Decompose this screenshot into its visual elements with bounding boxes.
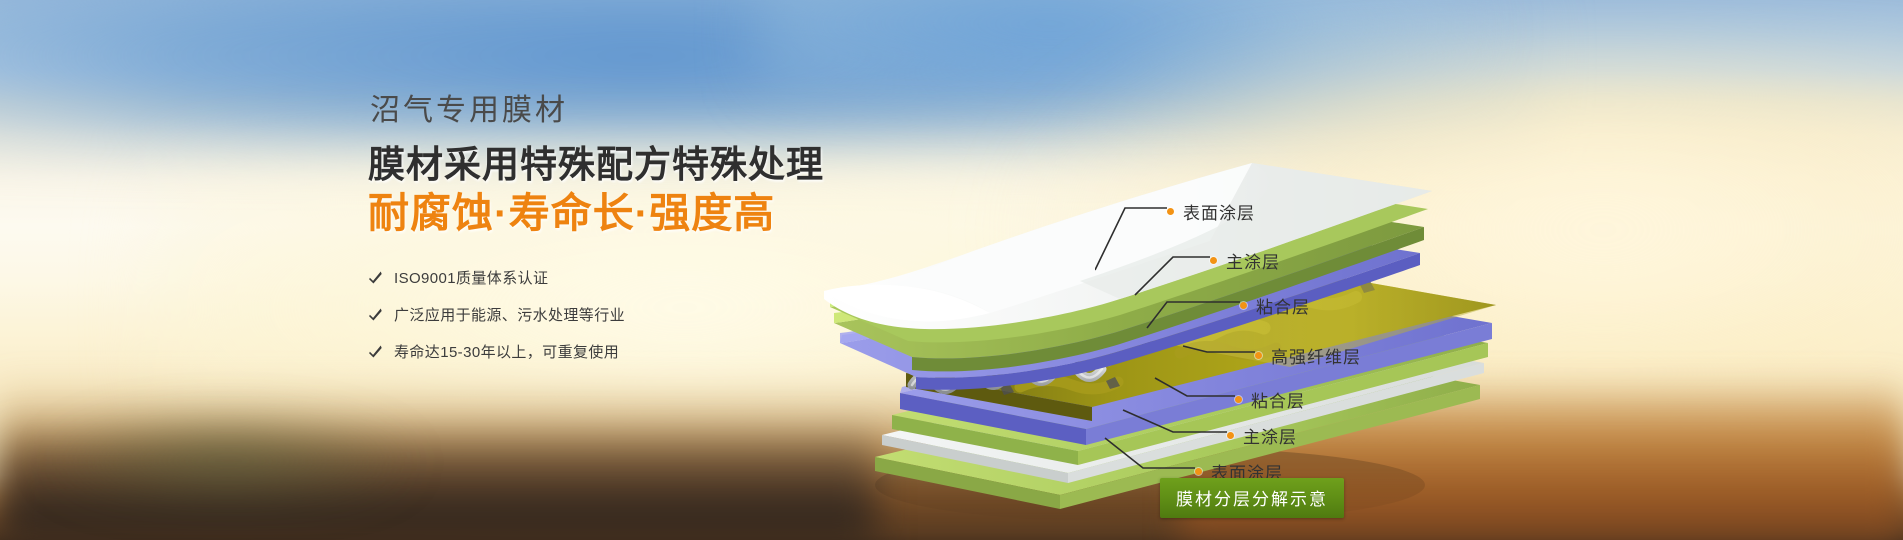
callout-label: 主涂层 [1243, 423, 1297, 448]
list-item: ISO9001质量体系认证 [368, 267, 868, 288]
list-item: 广泛应用于能源、污水处理等行业 [368, 304, 868, 325]
callout-label: 表面涂层 [1183, 199, 1255, 224]
list-item-label: ISO9001质量体系认证 [394, 267, 548, 288]
bullet-dot-icon [1240, 302, 1247, 309]
check-icon [368, 344, 383, 359]
banner-eyebrow: 沼气专用膜材 [370, 96, 868, 126]
leader-lines [1095, 80, 1595, 500]
callout-label: 主涂层 [1226, 248, 1280, 273]
callout-label: 高强纤维层 [1271, 343, 1361, 368]
callout-label: 粘合层 [1251, 387, 1305, 412]
banner-copy: 沼气专用膜材 膜材采用特殊配方特殊处理 耐腐蚀·寿命长·强度高 ISO9001质… [368, 96, 868, 378]
list-item-label: 寿命达15-30年以上，可重复使用 [394, 341, 619, 362]
background-green-patch [38, 410, 419, 496]
hero-banner: 沼气专用膜材 膜材采用特殊配方特殊处理 耐腐蚀·寿命长·强度高 ISO9001质… [0, 0, 1903, 540]
bullet-dot-icon [1227, 432, 1234, 439]
check-icon [368, 307, 383, 322]
bullet-dot-icon [1255, 352, 1262, 359]
callout-surface-coating-top: 表面涂层 [1167, 199, 1255, 224]
callout-adhesive-bottom: 粘合层 [1235, 387, 1305, 412]
list-item-label: 广泛应用于能源、污水处理等行业 [394, 304, 625, 325]
check-icon [368, 270, 383, 285]
banner-subheadline: 耐腐蚀·寿命长·强度高 [368, 191, 868, 237]
callout-label: 粘合层 [1256, 293, 1310, 318]
bullet-dot-icon [1167, 208, 1174, 215]
list-item: 寿命达15-30年以上，可重复使用 [368, 341, 868, 362]
callout-adhesive-top: 粘合层 [1240, 293, 1310, 318]
callout-fibre-layer: 高强纤维层 [1255, 343, 1361, 368]
callout-main-coating-bottom: 主涂层 [1227, 423, 1297, 448]
diagram-callouts: 表面涂层 主涂层 粘合层 高强纤维层 粘合层 主涂层 表面涂层 [1095, 80, 1595, 500]
bullet-dot-icon [1210, 257, 1217, 264]
bullet-dot-icon [1235, 396, 1242, 403]
banner-headline: 膜材采用特殊配方特殊处理 [368, 144, 868, 185]
feature-list: ISO9001质量体系认证 广泛应用于能源、污水处理等行业 寿命达15-30年以… [368, 267, 868, 362]
callout-main-coating-top: 主涂层 [1210, 248, 1280, 273]
diagram-badge: 膜材分层分解示意 [1160, 478, 1344, 518]
bullet-dot-icon [1195, 468, 1202, 475]
